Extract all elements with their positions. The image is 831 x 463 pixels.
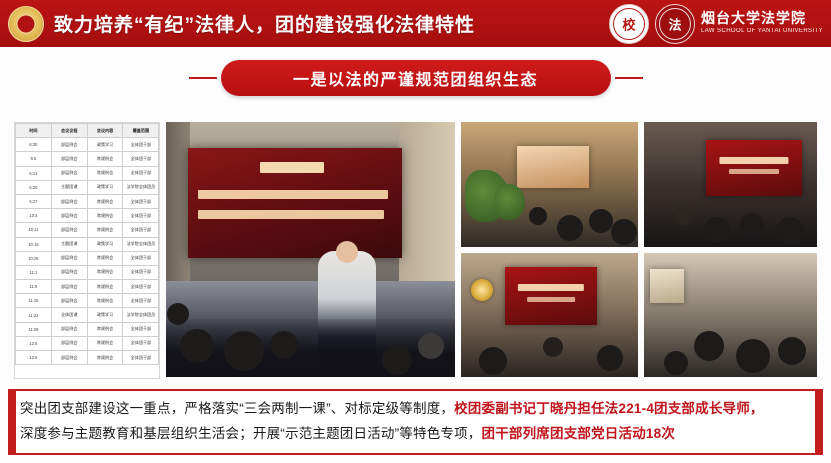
logo-right-glyph: 法 [656,14,694,33]
slide-root: ★ 致力培养“有纪”法律人，团的建设强化法律特性 校 法 烟台大学法学院 LAW… [0,0,831,463]
red-presentation-screen [505,267,597,325]
cell-scope: 全体团干部 [123,251,159,265]
star-glyph: ★ [21,18,31,29]
cell-content: 政策学习 [87,138,123,152]
cell-time: 12:6 [16,351,52,365]
cell-agenda: 部层例会 [51,251,87,265]
cell-content: 常规例会 [87,166,123,180]
audience-head [664,351,688,375]
table-col-time: 时间 [16,124,52,138]
audience-head [479,347,507,375]
cell-time: 6:6 [16,152,52,166]
photo-grid [461,122,817,377]
section-banner: 一是以法的严谨规范团组织生态 [221,60,611,96]
audience-head [778,337,806,365]
cell-content: 常规例会 [87,351,123,365]
table-row: 6:30部层例会政策学习全体团干部 [16,138,159,152]
cell-time: 6:27 [16,194,52,208]
screen-title-line [260,162,324,173]
cell-time: 11:22 [16,308,52,322]
red-presentation-screen [706,140,802,196]
cell-agenda: 部层例会 [51,194,87,208]
cell-agenda: 主题团课 [51,237,87,251]
audience-head [776,217,804,245]
cell-time: 12:6 [16,336,52,350]
cell-content: 常规例会 [87,294,123,308]
cell-agenda: 部层例会 [51,351,87,365]
footer-line-1-text: 突出团支部建设这一重点，严格落实“三会两制一课”、对标定级等制度， [20,401,454,416]
schedule-table: 时间 会议议程 会议内容 覆盖范围 6:30部层例会政策学习全体团干部 6:6部… [14,122,160,379]
cell-content: 政策学习 [87,180,123,194]
audience-head [589,209,613,233]
cell-content: 常规例会 [87,322,123,336]
cell-scope: 法学院全体团员 [123,180,159,194]
screen-text-line [527,297,575,302]
cell-content: 政策学习 [87,237,123,251]
projector-screen [650,269,684,303]
table-row: 12:6部层例会常规例会全体团干部 [16,351,159,365]
projector-screen [517,146,589,188]
cell-scope: 法学院全体团员 [123,237,159,251]
table-row: 11:1部层例会常规例会全体团干部 [16,265,159,279]
cell-scope: 全体团干部 [123,223,159,237]
cell-scope: 全体团干部 [123,294,159,308]
footer-summary: 突出团支部建设这一重点，严格落实“三会两制一课”、对标定级等制度，校团委副书记丁… [8,389,823,455]
table-body: 6:30部层例会政策学习全体团干部 6:6部层例会常规例会全体团干部 6:13部… [16,138,159,365]
cell-agenda: 部层例会 [51,336,87,350]
speaker-figure [543,337,563,357]
footer-line-2-highlight: 团干部列席团支部党日活动18次 [482,426,676,441]
cell-agenda: 部层例会 [51,223,87,237]
table-row: 6:6部层例会常规例会全体团干部 [16,152,159,166]
cell-agenda: 部层例会 [51,209,87,223]
lecture-hall-main-photo [166,122,455,377]
footer-line-2: 深度参与主题教育和基层组织生活会；开展“示范主题团日活动”等特色专项，团干部列席… [20,424,811,444]
table-row: 10:4部层例会常规例会全体团干部 [16,209,159,223]
table-row: 6:13部层例会常规例会全体团干部 [16,166,159,180]
cell-content: 常规例会 [87,152,123,166]
cell-agenda: 部层例会 [51,138,87,152]
table-row: 12:6部层例会常规例会全体团干部 [16,336,159,350]
table-row: 11:22全体团课政策学习法学院全体团员 [16,308,159,322]
university-name-cn: 烟台大学法学院 [701,13,823,28]
cell-content: 常规例会 [87,280,123,294]
cell-agenda: 部层例会 [51,152,87,166]
screen-title-line [518,284,584,291]
cell-scope: 全体团干部 [123,351,159,365]
cell-time: 6:20 [16,180,52,194]
audience-head [611,219,637,245]
cell-scope: 全体团干部 [123,265,159,279]
cell-scope: 全体团干部 [123,209,159,223]
table-col-agenda: 会议议程 [51,124,87,138]
cell-content: 常规例会 [87,336,123,350]
table-row: 11:29部层例会常规例会全体团干部 [16,322,159,336]
slide-header: ★ 致力培养“有纪”法律人，团的建设强化法律特性 校 法 烟台大学法学院 LAW… [0,0,831,47]
table-row: 11:15部层例会常规例会全体团干部 [16,294,159,308]
cell-agenda: 主题团课 [51,180,87,194]
university-name: 烟台大学法学院 LAW SCHOOL OF YANTAI UNIVERSITY [701,13,823,34]
wall-left [166,122,190,302]
cell-time: 11:1 [16,265,52,279]
red-screen-meeting-photo [644,122,817,247]
cell-time: 6:30 [16,138,52,152]
classroom-projector-photo [461,122,638,247]
cell-time: 10:4 [16,209,52,223]
table-row: 6:27部层例会常规例会全体团干部 [16,194,159,208]
cell-agenda: 部层例会 [51,166,87,180]
table-row: 10:11部层例会常规例会全体团干部 [16,223,159,237]
cell-content: 常规例会 [87,194,123,208]
cell-scope: 法学院全体团员 [123,308,159,322]
cell-scope: 全体团干部 [123,138,159,152]
league-branch-meeting-photo [461,253,638,378]
cell-time: 10:25 [16,251,52,265]
cell-scope: 全体团干部 [123,336,159,350]
audience-head [736,339,770,373]
section-banner-wrapper: 一是以法的严谨规范团组织生态 [0,60,831,96]
cell-scope: 全体团干部 [123,194,159,208]
cell-agenda: 部层例会 [51,280,87,294]
header-logo-group: 校 法 烟台大学法学院 LAW SCHOOL OF YANTAI UNIVERS… [609,3,823,44]
cell-time: 10:11 [16,223,52,237]
screen-text-line [729,169,779,174]
plant-icon [495,184,525,220]
audience-head [740,213,764,237]
cell-scope: 全体团干部 [123,322,159,336]
screen-title-line [719,157,788,164]
school-seal-icon: 校 [609,4,649,44]
table-row: 6:20主题团课政策学习法学院全体团员 [16,180,159,194]
screen-text-line [198,190,388,199]
footer-line-1: 突出团支部建设这一重点，严格落实“三会两制一课”、对标定级等制度，校团委副书记丁… [20,399,811,419]
speaker-figure [674,207,692,225]
cell-agenda: 部层例会 [51,265,87,279]
footer-accent-right [815,391,821,453]
screen-text-line [198,210,384,219]
table-row: 10:18主题团课政策学习法学院全体团员 [16,237,159,251]
cell-time: 11:29 [16,322,52,336]
law-school-logo-icon: 法 [655,4,695,44]
table-col-content: 会议内容 [87,124,123,138]
table-header-row: 时间 会议议程 会议内容 覆盖范围 [16,124,159,138]
cell-time: 11:15 [16,294,52,308]
photo-row-bottom [461,253,817,378]
audience-head [529,207,547,225]
table-col-scope: 覆盖范围 [123,124,159,138]
table-row: 11:8部层例会常规例会全体团干部 [16,280,159,294]
cell-content: 政策学习 [87,308,123,322]
audience-head [557,215,583,241]
league-emblem-icon [471,279,493,301]
cell-scope: 全体团干部 [123,152,159,166]
audience-head [694,331,724,361]
cell-content: 常规例会 [87,265,123,279]
table-row: 10:25部层例会常规例会全体团干部 [16,251,159,265]
audience-head [704,217,730,243]
photo-row-top [461,122,817,247]
schedule-table-grid: 时间 会议议程 会议内容 覆盖范围 6:30部层例会政策学习全体团干部 6:6部… [15,123,159,365]
footer-line-1-highlight: 校团委副书记丁晓丹担任法221-4团支部成长导师， [454,401,764,416]
cell-content: 常规例会 [87,223,123,237]
cell-agenda: 全体团课 [51,308,87,322]
cell-time: 11:8 [16,280,52,294]
content-area: 时间 会议议程 会议内容 覆盖范围 6:30部层例会政策学习全体团干部 6:6部… [14,122,817,377]
cell-content: 常规例会 [87,209,123,223]
cell-time: 10:18 [16,237,52,251]
cell-agenda: 部层例会 [51,322,87,336]
cell-scope: 全体团干部 [123,166,159,180]
seal-left-glyph: 校 [610,14,648,33]
cell-scope: 全体团干部 [123,280,159,294]
footer-line-2-text: 深度参与主题教育和基层组织生活会；开展“示范主题团日活动”等特色专项， [20,426,482,441]
communist-youth-league-emblem-icon: ★ [8,6,44,42]
audience-head [597,345,623,371]
page-title: 致力培养“有纪”法律人，团的建设强化法律特性 [54,10,475,37]
university-name-en: LAW SCHOOL OF YANTAI UNIVERSITY [701,28,823,34]
cell-agenda: 部层例会 [51,294,87,308]
cell-content: 常规例会 [87,251,123,265]
presentation-screen [188,148,402,258]
cell-time: 6:13 [16,166,52,180]
students-seminar-photo [644,253,817,378]
footer-accent-left [10,391,16,453]
